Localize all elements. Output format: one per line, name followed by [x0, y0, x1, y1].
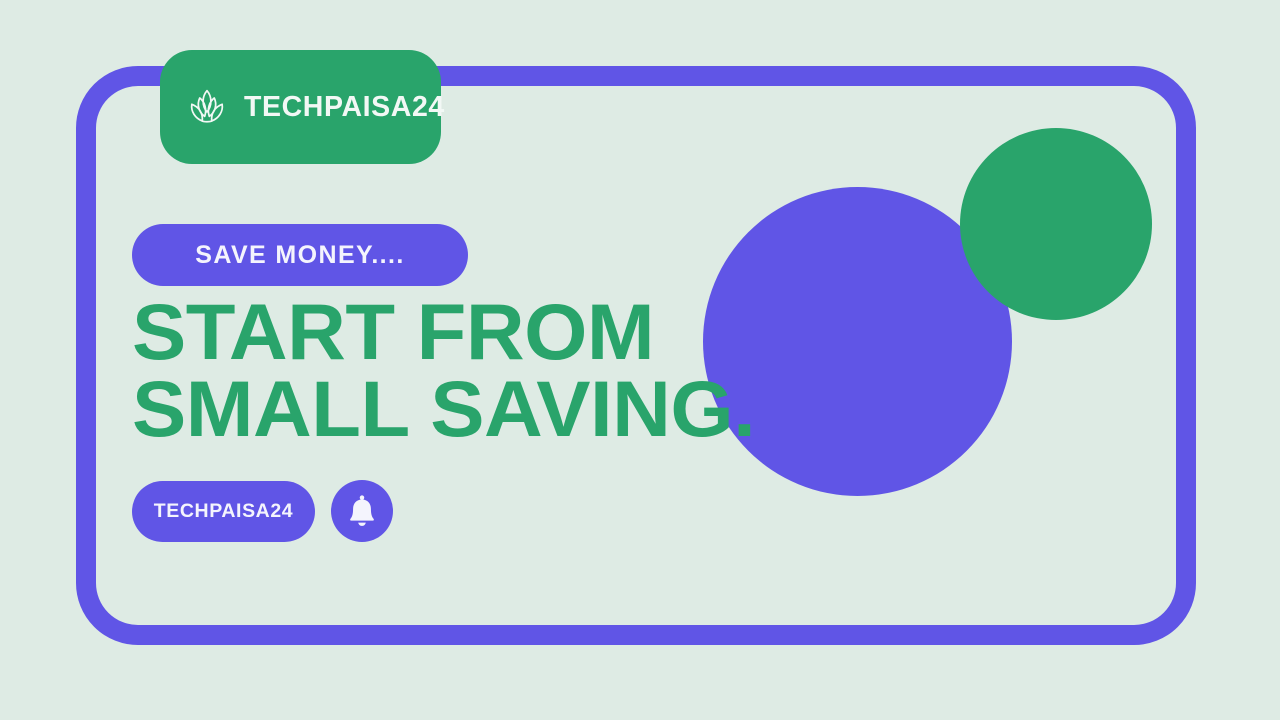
brand-badge: TECHPAISA24	[160, 50, 441, 164]
bell-icon	[345, 494, 379, 528]
decorative-circle-green	[960, 128, 1152, 320]
eyebrow-pill[interactable]: SAVE MONEY....	[132, 224, 468, 286]
notification-bell-button[interactable]	[331, 480, 393, 542]
eyebrow-label: SAVE MONEY....	[195, 241, 404, 270]
promo-banner: TECHPAISA24 SAVE MONEY.... START FROM SM…	[0, 0, 1280, 720]
headline-line-1: START FROM	[132, 293, 755, 370]
lotus-icon	[184, 84, 230, 130]
brand-badge-label: TECHPAISA24	[244, 91, 445, 124]
cta-pill-button[interactable]: TECHPAISA24	[132, 481, 315, 542]
cta-row: TECHPAISA24	[132, 480, 393, 542]
headline-line-2: SMALL SAVING.	[132, 370, 755, 447]
page-title: START FROM SMALL SAVING.	[132, 293, 737, 448]
cta-pill-label: TECHPAISA24	[154, 500, 294, 523]
